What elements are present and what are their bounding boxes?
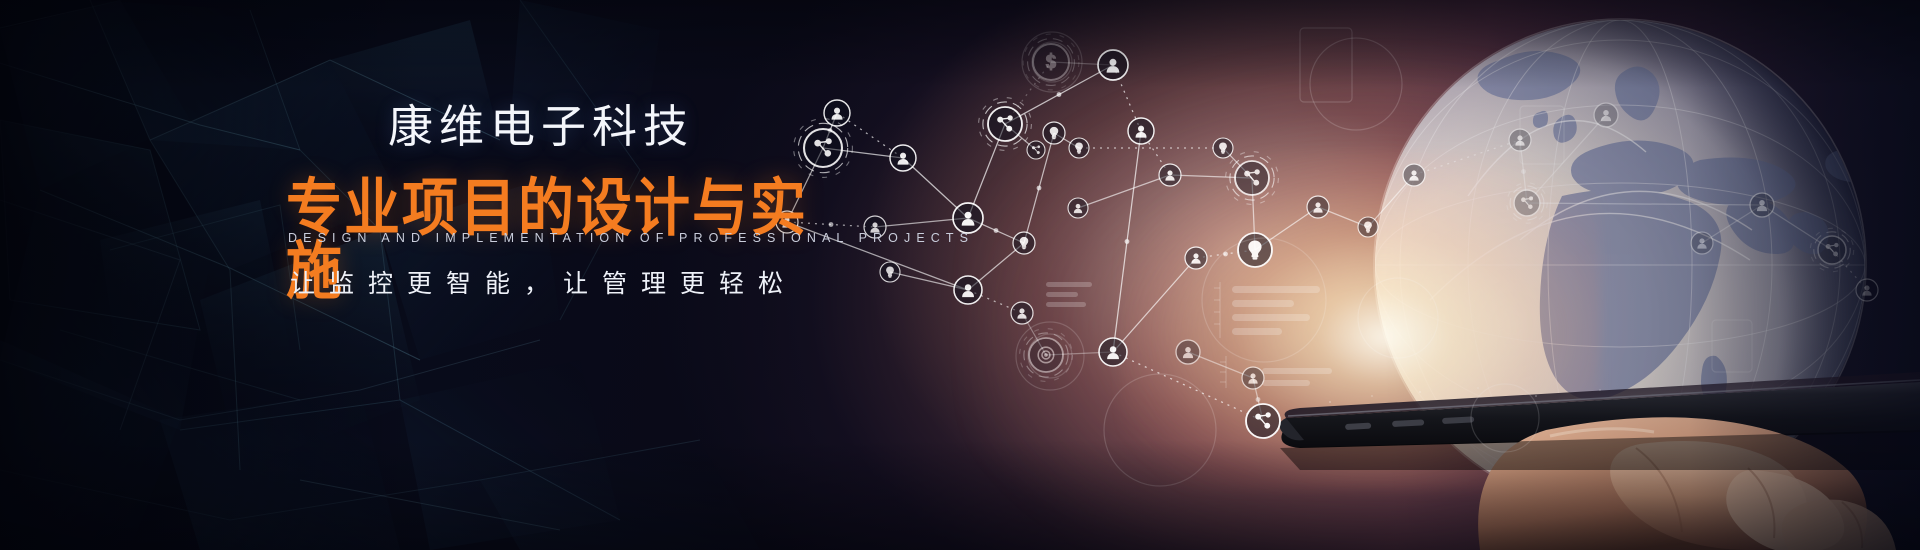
globe-hologram [0, 0, 1920, 550]
hero-banner: 康维电子科技 专业项目的设计与实施 DESIGN AND IMPLEMENTAT… [0, 0, 1920, 550]
